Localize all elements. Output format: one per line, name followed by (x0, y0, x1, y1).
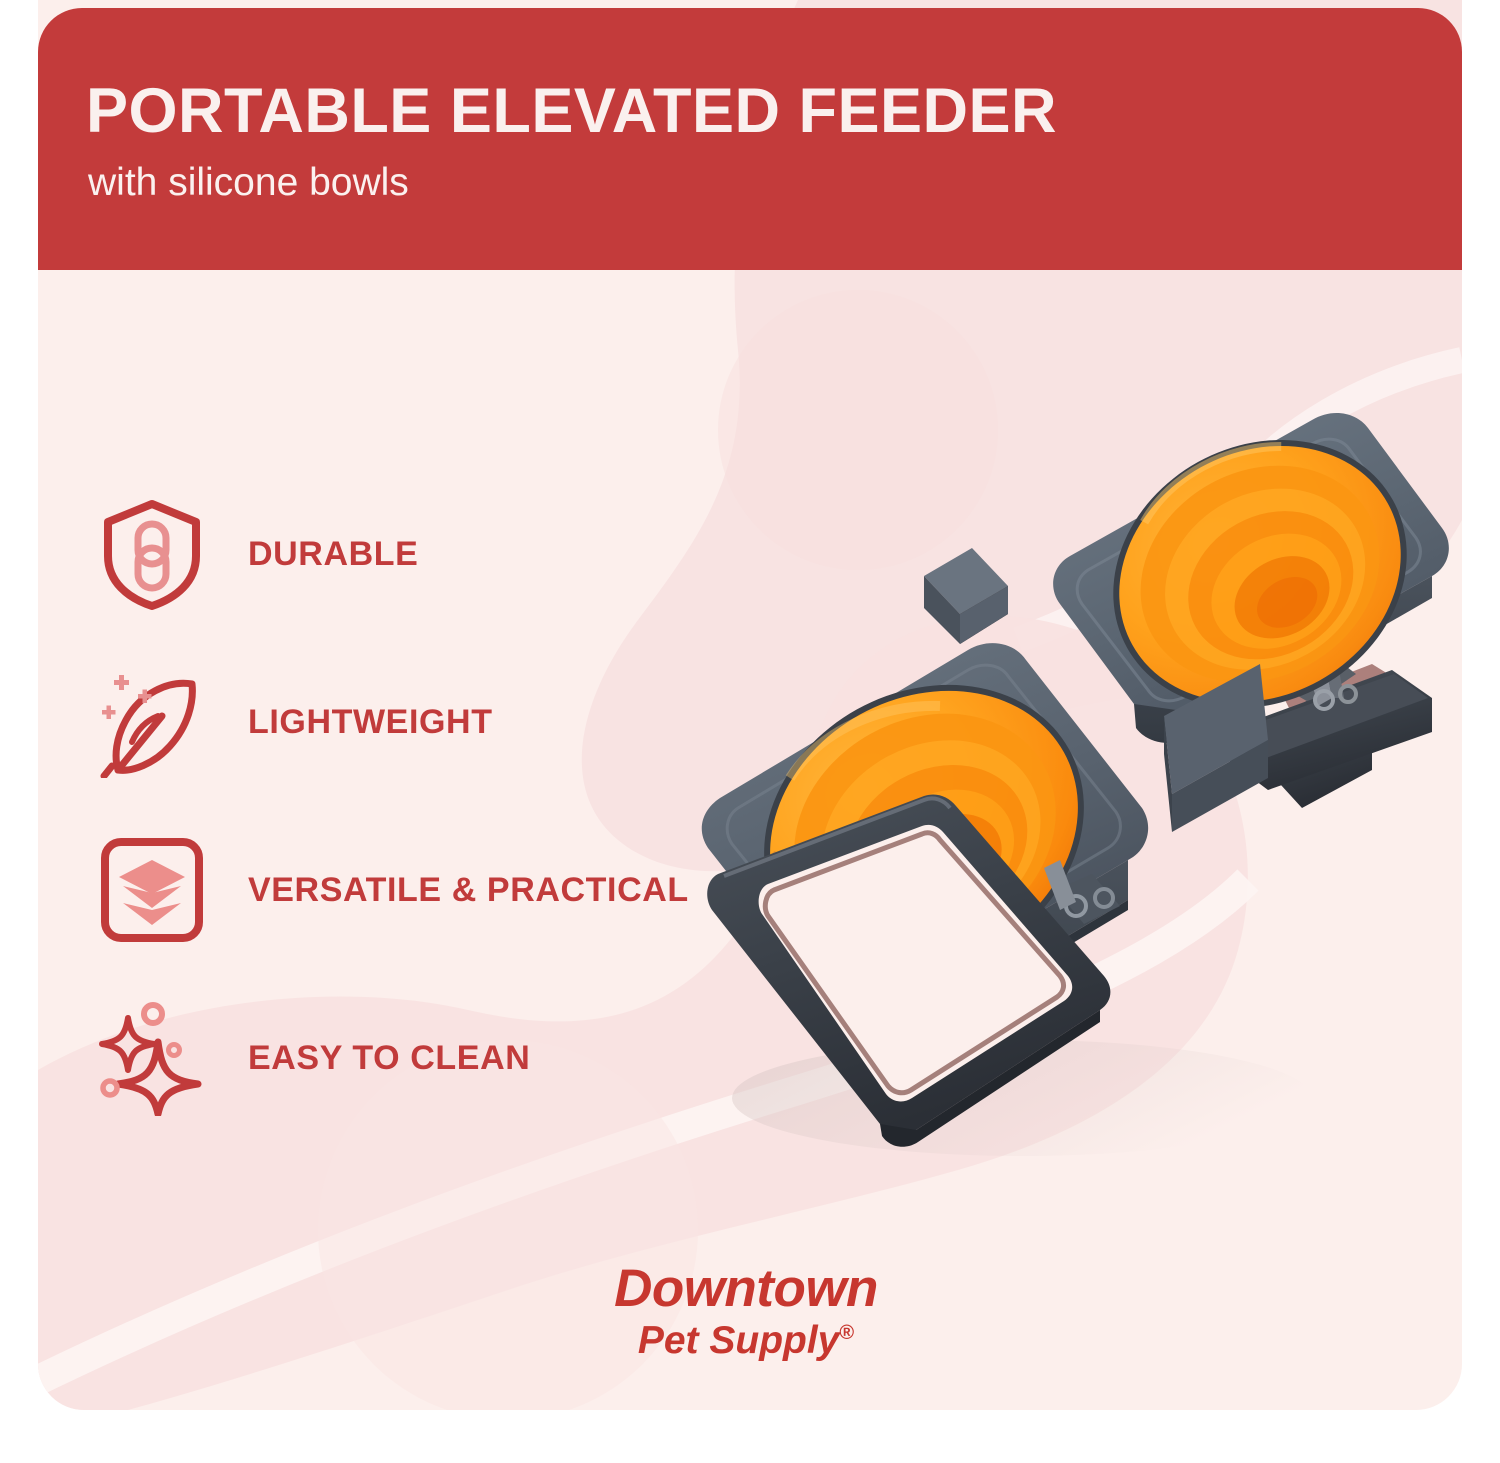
hinge-tab (924, 548, 1008, 644)
product-image: Downtown Pet Supply™ (672, 398, 1472, 1188)
registered-trademark-icon: ® (839, 1322, 854, 1344)
layers-square-icon (96, 834, 208, 946)
sparkle-stars-icon (96, 1002, 208, 1114)
brand-logo-line2-text: Pet Supply (638, 1319, 840, 1362)
brand-logo-line2: Pet Supply® (556, 1321, 936, 1360)
brand-logo-line1: Downtown (556, 1262, 936, 1315)
header-banner: PORTABLE ELEVATED FEEDER with silicone b… (38, 8, 1462, 270)
feature-list: DURABLE LIGHTWEIGHT (96, 470, 736, 1142)
feature-label: DURABLE (248, 535, 418, 574)
feather-sparkle-icon (96, 666, 208, 778)
banner-title: PORTABLE ELEVATED FEEDER (86, 80, 1057, 143)
feature-item-lightweight: LIGHTWEIGHT (96, 638, 736, 806)
feature-label: EASY TO CLEAN (248, 1039, 530, 1078)
banner-subtitle: with silicone bowls (88, 160, 409, 207)
feature-item-durable: DURABLE (96, 470, 736, 638)
brand-logo: Downtown Pet Supply® (556, 1262, 936, 1360)
product-infographic: PORTABLE ELEVATED FEEDER with silicone b… (0, 0, 1500, 1463)
shield-chain-icon (96, 498, 208, 610)
feature-item-versatile: VERSATILE & PRACTICAL (96, 806, 736, 974)
feature-label: LIGHTWEIGHT (248, 703, 493, 742)
feature-label: VERSATILE & PRACTICAL (248, 871, 689, 910)
feature-item-easy-to-clean: EASY TO CLEAN (96, 974, 736, 1142)
